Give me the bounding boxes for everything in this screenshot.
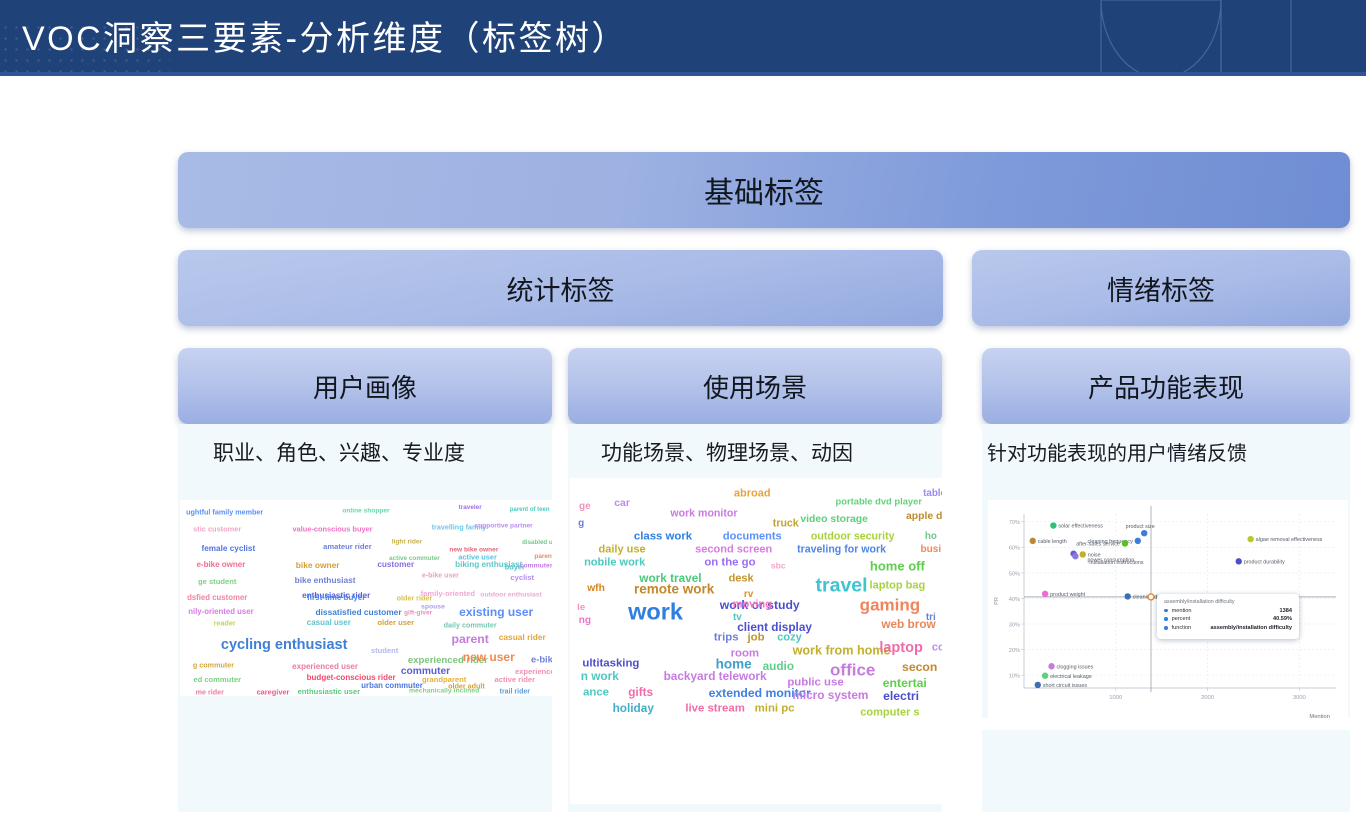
word-cloud-term: le	[577, 604, 585, 614]
word-cloud-term: work from home	[793, 644, 891, 657]
word-cloud-term: live stream	[685, 704, 745, 715]
chart-tooltip-title: assembly/installation difficulty	[1164, 599, 1292, 605]
word-cloud-term: first-time buyer	[307, 594, 365, 602]
word-cloud-term: daily use	[599, 544, 646, 555]
word-cloud-term: desk	[729, 574, 754, 585]
word-cloud-term: tri	[926, 613, 936, 623]
tag-card-basic-label: 基础标签	[704, 168, 824, 212]
word-cloud-term: nily-oriented user	[188, 608, 253, 616]
caption-usage-scenario: 功能场景、物理场景、动因	[601, 437, 853, 467]
chart-point-label: solar effectiveness	[1058, 524, 1103, 530]
word-cloud-term: mechanically inclined	[409, 689, 479, 696]
word-cloud-term: car	[614, 499, 630, 509]
chart-xtick-label: 3000	[1293, 695, 1306, 701]
word-cloud-term: remote work	[634, 582, 714, 596]
chart-tooltip-row-mention: mention 1384	[1164, 608, 1292, 614]
word-cloud-term: g commuter	[193, 661, 234, 668]
word-cloud-term: class work	[634, 531, 692, 542]
tag-card-statistical-label: 统计标签	[507, 269, 615, 308]
chart-xtick-label: 2000	[1201, 695, 1214, 701]
word-cloud-term: outdoor enthusiast	[480, 593, 542, 600]
word-cloud-term: e-bike user	[422, 573, 459, 580]
word-cloud-term: laptop	[879, 640, 923, 655]
word-cloud-term: cyclist	[510, 575, 534, 583]
chart-point-label: noise	[1088, 553, 1101, 559]
word-cloud-term: experienced user	[292, 663, 358, 671]
word-cloud-term: bike owner	[296, 560, 340, 568]
chart-point-label: product size	[1126, 524, 1155, 530]
chart-point[interactable]	[1247, 536, 1253, 542]
word-cloud-term: nobile work	[584, 557, 645, 568]
word-cloud-term: traveling for work	[797, 544, 886, 555]
word-cloud-term: older user	[377, 620, 414, 628]
word-cloud-term: new user	[463, 651, 515, 663]
chart-point-label: algae removal effectiveness	[1256, 537, 1323, 543]
word-cloud-term: parent	[452, 633, 489, 645]
chart-tooltip-row-function: function assembly/installation difficult…	[1164, 625, 1292, 631]
chart-point-label: product weight	[1050, 592, 1086, 598]
word-cloud-term: mini pc	[755, 704, 795, 715]
chart-point-label: after-sales service	[1076, 542, 1120, 548]
chart-point[interactable]	[1135, 538, 1141, 544]
chart-point[interactable]	[1141, 530, 1147, 536]
word-cloud-term: ultitasking	[582, 658, 639, 669]
word-cloud-term: table	[923, 489, 942, 499]
word-cloud-term: dsfied customer	[187, 594, 247, 602]
word-cloud-term: busi	[921, 545, 942, 555]
word-cloud-term: light rider	[392, 540, 422, 547]
word-cloud-term: entertai	[883, 677, 927, 689]
chart-ytick-label: 50%	[1009, 571, 1020, 577]
word-cloud-term: female cyclist	[202, 545, 256, 553]
word-cloud-term: bike enthusiast	[295, 576, 356, 584]
chart-tooltip-value: assembly/installation difficulty	[1211, 625, 1292, 631]
chart-ytick-label: 40%	[1009, 597, 1020, 603]
chart-point[interactable]	[1042, 591, 1048, 597]
word-cloud-term: moving	[733, 600, 772, 611]
word-cloud-term: trail rider	[500, 689, 530, 696]
chart-point[interactable]	[1042, 673, 1048, 679]
word-cloud-term: dissatisfied customer	[315, 608, 401, 616]
tag-card-statistical[interactable]: 统计标签	[178, 250, 943, 326]
word-cloud-term: micro system	[792, 691, 868, 703]
word-cloud-term: active rider	[495, 677, 536, 685]
word-cloud-term: travel	[816, 576, 868, 596]
word-cloud-term: casual user	[307, 619, 351, 627]
chart-point[interactable]	[1148, 594, 1154, 600]
word-cloud-term: gaming	[860, 597, 920, 614]
chart-tooltip-key: mention	[1172, 608, 1192, 614]
tag-card-user-persona[interactable]: 用户画像	[178, 348, 552, 424]
word-cloud-term: ho	[925, 532, 937, 542]
chart-point[interactable]	[1124, 593, 1130, 599]
word-cloud-term: electri	[883, 690, 919, 702]
word-cloud-term: wfh	[587, 584, 605, 594]
chart-point[interactable]	[1072, 553, 1078, 559]
word-cloud-term: enthusiastic user	[298, 688, 360, 696]
scatter-chart-product-function[interactable]: 10%20%30%40%50%60%70%100020003000PRMenti…	[988, 500, 1348, 728]
word-cloud-term: holiday	[613, 704, 654, 716]
word-cloud-term: cycling enthusiast	[221, 638, 348, 653]
chart-ytick-label: 30%	[1009, 622, 1020, 628]
chart-point[interactable]	[1048, 663, 1054, 669]
word-cloud-term: outdoor security	[811, 531, 895, 542]
chart-ytick-label: 10%	[1009, 674, 1020, 680]
chart-point-label: product durability	[1244, 559, 1285, 565]
word-cloud-term: parent or	[534, 554, 552, 560]
chart-tooltip-value: 1384	[1280, 608, 1292, 614]
word-cloud-term: job	[747, 632, 764, 643]
word-cloud-user-persona: ughtful family memberonline shoppertrave…	[180, 500, 552, 696]
word-cloud-term: documents	[723, 531, 782, 542]
word-cloud-term: online shopper	[342, 508, 389, 515]
word-cloud-term: buyer	[505, 563, 525, 570]
word-cloud-term: traveler	[459, 505, 482, 511]
tag-card-usage-scenario[interactable]: 使用场景	[568, 348, 942, 424]
word-cloud-term: audio	[763, 661, 794, 673]
panel-product-function-extra	[982, 730, 1350, 812]
word-cloud-term: casual rider	[499, 633, 546, 641]
arc-lines-decoration	[1061, 0, 1301, 76]
chart-tooltip: assembly/installation difficulty mention…	[1157, 594, 1299, 639]
chart-point[interactable]	[1122, 540, 1128, 546]
word-cloud-term: ed commuter	[193, 677, 241, 685]
word-cloud-term: trips	[714, 632, 739, 643]
word-cloud-term: grandparent	[422, 677, 466, 685]
header-accent-line	[0, 72, 1366, 76]
caption-user-persona: 职业、角色、兴趣、专业度	[213, 437, 465, 467]
word-cloud-term: stic customer	[193, 526, 241, 533]
chart-ytick-label: 60%	[1009, 546, 1020, 552]
tag-card-product-function[interactable]: 产品功能表现	[982, 348, 1350, 424]
word-cloud-term: ge	[579, 502, 591, 512]
chart-point-label: installation instructions	[1089, 560, 1144, 566]
word-cloud-term: cozy	[777, 632, 801, 643]
word-cloud-term: supportive partner	[474, 524, 532, 531]
word-cloud-term: backyard telework	[664, 671, 767, 683]
word-cloud-term: co	[932, 642, 942, 653]
word-cloud-term: g	[578, 519, 584, 529]
chart-point-label: short circuit issues	[1043, 683, 1088, 689]
word-cloud-term: parent of teen	[510, 507, 550, 513]
word-cloud-term: value-conscious buyer	[292, 526, 372, 533]
bullet-icon	[1164, 609, 1168, 613]
word-cloud-term: existing user	[459, 606, 533, 618]
bullet-icon	[1164, 617, 1168, 621]
caption-product-function: 针对功能表现的用户情绪反馈	[987, 437, 1247, 466]
tag-card-product-function-label: 产品功能表现	[1088, 368, 1244, 405]
word-cloud-term: ance	[583, 687, 609, 698]
word-cloud-term: laptop bag	[870, 580, 926, 591]
word-cloud-term: daily commuter	[444, 622, 497, 629]
chart-y-axis-title: PR	[994, 597, 1000, 605]
word-cloud-term: secon	[902, 661, 937, 673]
word-cloud-term: older rider	[397, 594, 433, 601]
tag-card-usage-scenario-label: 使用场景	[703, 368, 807, 405]
bullet-icon	[1164, 626, 1168, 630]
chart-point-label: electrical leakage	[1050, 674, 1092, 680]
word-cloud-term: truck	[773, 518, 799, 529]
word-cloud-term: ughtful family member	[186, 508, 263, 515]
word-cloud-term: student	[371, 647, 398, 655]
chart-tooltip-row-percent: percent 40.59%	[1164, 616, 1292, 622]
word-cloud-term: video storage	[800, 515, 868, 525]
word-cloud-term: n work	[581, 671, 619, 683]
word-cloud-term: abroad	[734, 489, 771, 500]
word-cloud-term: computer s	[860, 707, 919, 718]
word-cloud-term: second screen	[695, 544, 772, 555]
word-cloud-term: gifts	[628, 687, 653, 699]
tag-card-user-persona-label: 用户画像	[313, 368, 417, 405]
word-cloud-term: portable dvd player	[836, 496, 922, 505]
word-cloud-term: ge student	[198, 579, 236, 587]
word-cloud-term: work	[628, 600, 683, 624]
word-cloud-term: on the go	[704, 557, 755, 568]
chart-tooltip-key: function	[1172, 625, 1192, 631]
word-cloud-term: me rider	[196, 688, 224, 695]
word-cloud-term: sbc	[771, 562, 786, 571]
chart-point[interactable]	[1050, 522, 1056, 528]
word-cloud-term: e-bike owner	[196, 561, 245, 569]
tag-card-basic[interactable]: 基础标签	[178, 152, 1350, 228]
page-header: VOC洞察三要素-分析维度（标签树）	[0, 0, 1366, 76]
word-cloud-term: new bike owner	[449, 548, 498, 555]
word-cloud-term: customer	[377, 561, 414, 569]
word-cloud-term: gift-giver	[404, 610, 432, 617]
page-title: VOC洞察三要素-分析维度（标签树）	[22, 11, 628, 60]
word-cloud-term: work monitor	[670, 509, 737, 520]
chart-ytick-label: 20%	[1009, 648, 1020, 654]
chart-tooltip-value: 40.59%	[1273, 616, 1292, 622]
word-cloud-term: apple de	[906, 512, 942, 522]
chart-x-axis-title: Mention	[1309, 714, 1330, 720]
word-cloud-term: disabled use	[522, 540, 552, 546]
word-cloud-term: caregiver	[257, 688, 290, 695]
chart-point[interactable]	[1035, 682, 1041, 688]
word-cloud-usage-scenario: abroadportable dvd playertablegecarwork …	[570, 478, 942, 804]
word-cloud-term: amateur rider	[323, 543, 372, 551]
chart-xtick-label: 1000	[1109, 695, 1122, 701]
chart-ytick-label: 70%	[1009, 520, 1020, 526]
word-cloud-term: home off	[870, 560, 925, 573]
chart-point-label: clogging issues	[1057, 664, 1094, 670]
chart-point[interactable]	[1236, 558, 1242, 564]
word-cloud-term: e-bike	[531, 654, 552, 663]
chart-tooltip-key: percent	[1172, 616, 1191, 622]
chart-point-label: cable length	[1038, 539, 1067, 545]
word-cloud-term: reader	[214, 620, 236, 627]
tag-card-sentiment[interactable]: 情绪标签	[972, 250, 1350, 326]
word-cloud-term: ng	[579, 616, 591, 626]
chart-point[interactable]	[1030, 538, 1036, 544]
chart-point[interactable]	[1080, 551, 1086, 557]
tag-card-sentiment-label: 情绪标签	[1107, 269, 1215, 308]
